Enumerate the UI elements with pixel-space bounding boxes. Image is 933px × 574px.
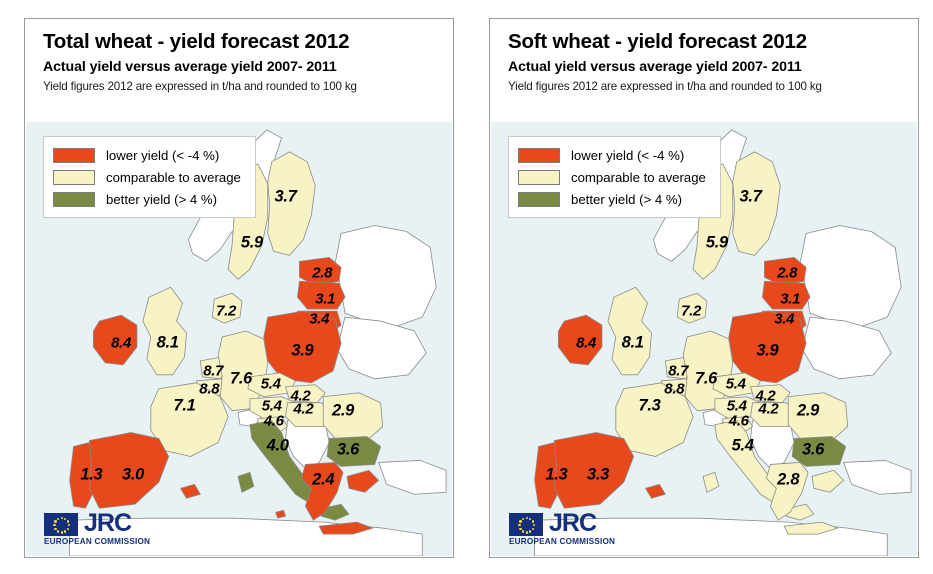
map-value-spain: 3.0	[122, 466, 144, 485]
eu-flag-icon	[509, 513, 543, 536]
map-value-greece: 2.8	[777, 471, 799, 490]
eu-flag-icon	[44, 513, 78, 536]
page-note: Yield figures 2012 are expressed in t/ha…	[508, 80, 908, 93]
map-value-estonia: 2.8	[777, 265, 797, 282]
legend-label-comparable: comparable to average	[106, 170, 241, 185]
legend-swatch-lower	[518, 148, 560, 163]
page-note: Yield figures 2012 are expressed in t/ha…	[43, 80, 443, 93]
map-value-finland: 3.7	[740, 187, 762, 206]
legend-item-lower: lower yield (< -4 %)	[53, 145, 241, 165]
map-value-spain: 3.3	[587, 466, 609, 485]
map-value-belgium: 8.8	[199, 380, 219, 397]
region-united-kingdom	[143, 287, 187, 375]
map-value-czech-republic: 5.4	[261, 375, 281, 392]
map-value-slovenia: 4.6	[729, 412, 749, 429]
map-value-slovenia: 4.6	[264, 412, 284, 429]
map-value-denmark: 7.2	[681, 303, 701, 320]
map-value-poland: 3.9	[756, 341, 778, 360]
map-value-poland: 3.9	[291, 341, 313, 360]
legend-item-better: better yield (> 4 %)	[53, 189, 241, 209]
map-value-romania: 2.9	[797, 401, 819, 420]
map-value-sweden: 5.9	[241, 234, 263, 253]
jrc-subtitle: EUROPEAN COMMISSION	[509, 537, 615, 546]
map-value-ireland: 8.4	[111, 334, 131, 351]
land-ukraine-moldova	[337, 317, 426, 379]
legend-swatch-comparable	[518, 170, 560, 185]
map-value-estonia: 2.8	[312, 265, 332, 282]
map-value-united-kingdom: 8.1	[622, 333, 644, 352]
legend-swatch-lower	[53, 148, 95, 163]
map-value-finland: 3.7	[275, 187, 297, 206]
legend-swatch-comparable	[53, 170, 95, 185]
map-value-denmark: 7.2	[216, 303, 236, 320]
jrc-wordmark: JRC	[549, 512, 596, 536]
legend-item-comparable: comparable to average	[518, 167, 706, 187]
map-value-netherlands: 8.7	[203, 362, 223, 379]
panel-soft-wheat: Soft wheat - yield forecast 2012 Actual …	[489, 18, 919, 558]
map-value-ireland: 8.4	[576, 334, 596, 351]
legend-item-lower: lower yield (< -4 %)	[518, 145, 706, 165]
map-value-romania: 2.9	[332, 401, 354, 420]
map-value-portugal: 1.3	[545, 466, 567, 485]
page-title: Total wheat - yield forecast 2012	[43, 31, 443, 53]
land-ukraine-moldova	[802, 317, 891, 379]
map-value-portugal: 1.3	[80, 466, 102, 485]
legend-item-comparable: comparable to average	[53, 167, 241, 187]
map-value-germany: 7.6	[230, 369, 252, 388]
legend-swatch-better	[518, 192, 560, 207]
map-value-sweden: 5.9	[706, 234, 728, 253]
land-russia-belarus	[335, 226, 436, 328]
legend-label-lower: lower yield (< -4 %)	[106, 148, 219, 163]
panel-total-wheat: Total wheat - yield forecast 2012 Actual…	[24, 18, 454, 558]
map-value-greece: 2.4	[312, 471, 334, 490]
map-value-bulgaria: 3.6	[802, 441, 824, 460]
jrc-logo: JRC EUROPEAN COMMISSION	[509, 512, 615, 546]
panel-header: Total wheat - yield forecast 2012 Actual…	[43, 31, 443, 93]
map-value-hungary: 4.2	[758, 400, 778, 417]
page-title: Soft wheat - yield forecast 2012	[508, 31, 908, 53]
region-united-kingdom	[608, 287, 652, 375]
map-value-bulgaria: 3.6	[337, 441, 359, 460]
map-value-netherlands: 8.7	[668, 362, 688, 379]
map-legend: lower yield (< -4 %) comparable to avera…	[508, 136, 721, 218]
legend-swatch-better	[53, 192, 95, 207]
panel-header: Soft wheat - yield forecast 2012 Actual …	[508, 31, 908, 93]
jrc-subtitle: EUROPEAN COMMISSION	[44, 537, 150, 546]
land-turkey	[379, 460, 446, 494]
legend-item-better: better yield (> 4 %)	[518, 189, 706, 209]
land-turkey	[844, 460, 911, 494]
legend-label-better: better yield (> 4 %)	[571, 192, 682, 207]
page-subtitle: Actual yield versus average yield 2007- …	[43, 59, 443, 75]
page-subtitle: Actual yield versus average yield 2007- …	[508, 59, 908, 75]
map-value-lithuania: 3.4	[774, 311, 794, 328]
map-value-france: 7.3	[638, 396, 660, 415]
region-cyprus-malta-islands	[276, 510, 286, 518]
legend-label-better: better yield (> 4 %)	[106, 192, 217, 207]
jrc-wordmark: JRC	[84, 512, 131, 536]
map-value-latvia: 3.1	[315, 291, 335, 308]
map-value-czech-republic: 5.4	[726, 375, 746, 392]
land-russia-belarus	[800, 226, 901, 328]
map-value-germany: 7.6	[695, 369, 717, 388]
map-value-united-kingdom: 8.1	[157, 333, 179, 352]
map-legend: lower yield (< -4 %) comparable to avera…	[43, 136, 256, 218]
map-soft-wheat[interactable]: lower yield (< -4 %) comparable to avera…	[491, 122, 917, 556]
map-value-belgium: 8.8	[664, 380, 684, 397]
legend-label-lower: lower yield (< -4 %)	[571, 148, 684, 163]
map-total-wheat[interactable]: lower yield (< -4 %) comparable to avera…	[26, 122, 452, 556]
map-value-lithuania: 3.4	[309, 311, 329, 328]
map-value-italy: 5.4	[732, 436, 754, 455]
jrc-logo: JRC EUROPEAN COMMISSION	[44, 512, 150, 546]
map-value-latvia: 3.1	[780, 291, 800, 308]
legend-label-comparable: comparable to average	[571, 170, 706, 185]
map-value-hungary: 4.2	[293, 400, 313, 417]
map-value-france: 7.1	[173, 396, 195, 415]
map-value-italy: 4.0	[267, 436, 289, 455]
